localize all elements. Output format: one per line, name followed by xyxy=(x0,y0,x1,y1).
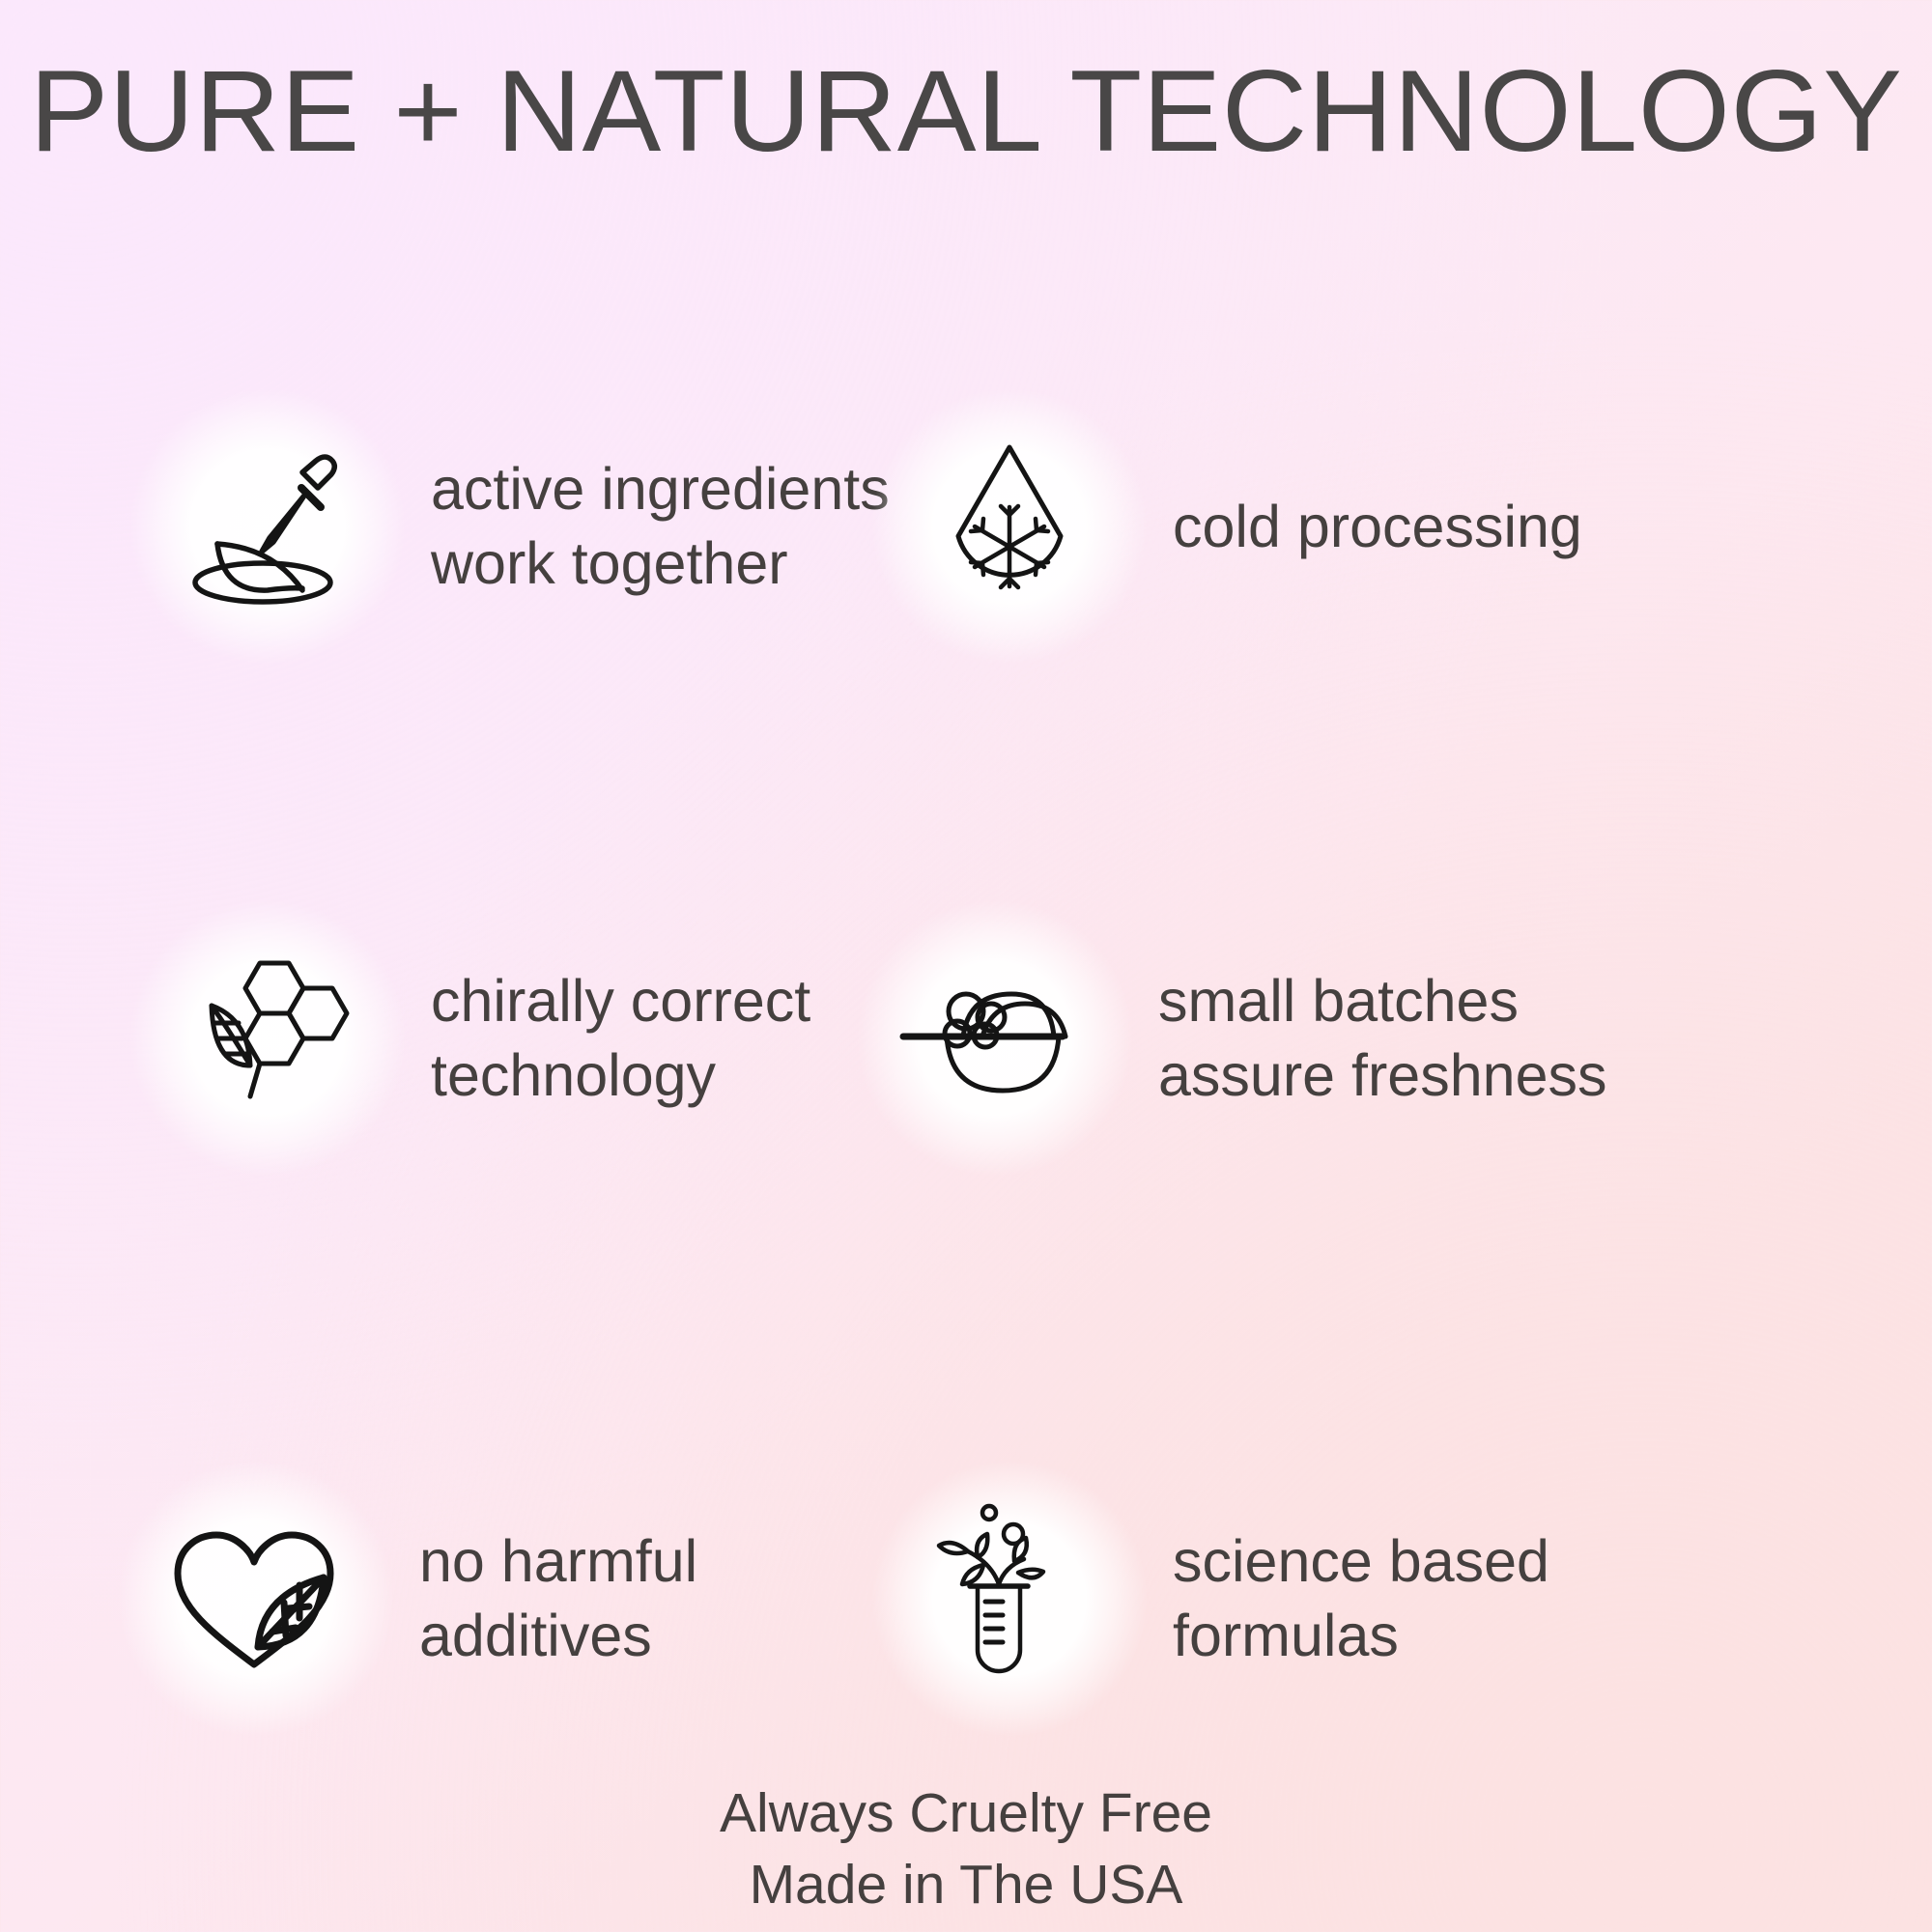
icon-halo xyxy=(147,406,388,647)
icon-halo xyxy=(889,406,1130,647)
feature-item-science-based: science based formulas xyxy=(889,1478,1549,1719)
spoon-bowl-berries-icon xyxy=(894,942,1096,1135)
icon-halo xyxy=(889,1478,1130,1719)
icon-halo xyxy=(135,1478,377,1719)
test-tube-plant-icon xyxy=(918,1497,1101,1700)
heart-leaf-icon xyxy=(155,1502,357,1695)
icon-halo xyxy=(147,918,388,1159)
feature-item-cold-processing: cold processing xyxy=(889,406,1582,647)
feature-item-chirally-correct: chirally correct technology xyxy=(147,918,810,1159)
feature-label: small batches assure freshness xyxy=(1158,964,1607,1113)
feature-label: chirally correct technology xyxy=(431,964,810,1113)
feature-item-no-harmful-additives: no harmful additives xyxy=(135,1478,697,1719)
feature-label: no harmful additives xyxy=(419,1524,697,1673)
icon-halo xyxy=(874,918,1116,1159)
feature-label: cold processing xyxy=(1173,490,1582,564)
feature-grid: active ingredients work together xyxy=(0,0,1932,1932)
infographic-page: PURE + NATURAL TECHNOLOGY xyxy=(0,0,1932,1932)
dropper-leaf-dish-icon xyxy=(171,430,364,623)
hexagon-molecule-leaf-icon xyxy=(171,942,364,1135)
water-drop-snowflake-icon xyxy=(918,430,1101,623)
feature-item-small-batches: small batches assure freshness xyxy=(874,918,1607,1159)
feature-label: active ingredients work together xyxy=(431,452,890,601)
feature-label: science based formulas xyxy=(1173,1524,1549,1673)
feature-item-active-ingredients: active ingredients work together xyxy=(147,406,890,647)
footer-text: Always Cruelty Free Made in The USA xyxy=(0,1777,1932,1920)
